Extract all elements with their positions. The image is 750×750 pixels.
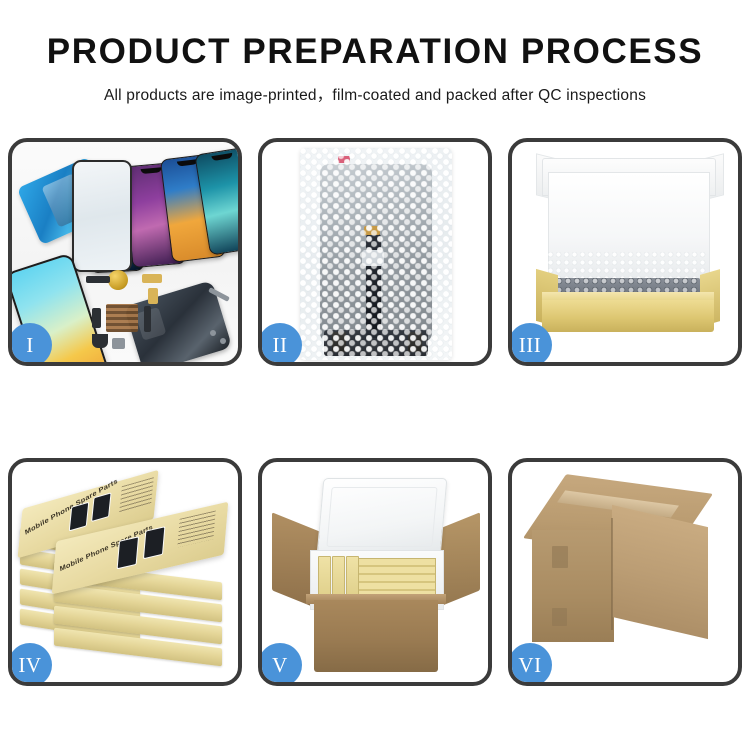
box-window: [69, 502, 90, 532]
tray-front-panel: [542, 300, 714, 332]
bubble-wrap-overlay: [300, 148, 452, 360]
process-step-panel-4: Mobile Phone Spare Parts Mobile Phone Sp…: [8, 458, 242, 686]
step-badge-2: II: [258, 323, 302, 366]
box-spec-lines: [177, 511, 215, 548]
box-window: [143, 526, 165, 559]
chip-array-part: [106, 304, 138, 332]
carton-left-face: [532, 530, 614, 642]
tempered-glass-protector: [72, 160, 132, 272]
page-subtitle: All products are image-printed，film-coat…: [0, 83, 750, 105]
spare-part: [92, 308, 101, 328]
step-badge-6: VI: [508, 643, 552, 686]
notch-icon: [211, 153, 232, 161]
process-step-panel-2: II: [258, 138, 492, 366]
notch-icon: [141, 167, 162, 174]
screw-part: [220, 338, 226, 344]
screw-part: [210, 330, 216, 336]
carton-corner-seam: [611, 518, 613, 630]
carton-right-face: [612, 505, 708, 639]
process-step-panel-3: III: [508, 138, 742, 366]
process-step-grid: I II: [8, 138, 742, 686]
spare-part: [142, 274, 162, 283]
carton-tab: [552, 608, 567, 626]
process-step-panel-5: V: [258, 458, 492, 686]
spare-part: [148, 288, 158, 304]
box-spec-lines: [119, 477, 154, 513]
process-step-panel-6: VI: [508, 458, 742, 686]
box-window: [117, 536, 139, 569]
spare-part: [86, 276, 110, 283]
foam-lid: [317, 478, 448, 556]
step-badge-4: IV: [8, 643, 52, 686]
carton-tab: [552, 546, 568, 568]
foam-texture: [548, 252, 708, 278]
step-badge-5: V: [258, 643, 302, 686]
process-step-panel-1: I: [8, 138, 242, 366]
carton-front-panel: [314, 600, 438, 672]
box-window: [91, 492, 112, 522]
header: PRODUCT PREPARATION PROCESS All products…: [0, 0, 750, 105]
box-stack: Mobile Phone Spare Parts Mobile Phone Sp…: [18, 476, 232, 672]
step-badge-3: III: [508, 323, 552, 366]
spare-part: [112, 338, 125, 349]
gold-coil-part: [108, 270, 128, 290]
step-badge-1: I: [8, 323, 52, 366]
spare-part: [144, 306, 151, 332]
spare-part: [92, 334, 108, 348]
infographic-page: PRODUCT PREPARATION PROCESS All products…: [0, 0, 750, 750]
page-title: PRODUCT PREPARATION PROCESS: [0, 34, 750, 69]
